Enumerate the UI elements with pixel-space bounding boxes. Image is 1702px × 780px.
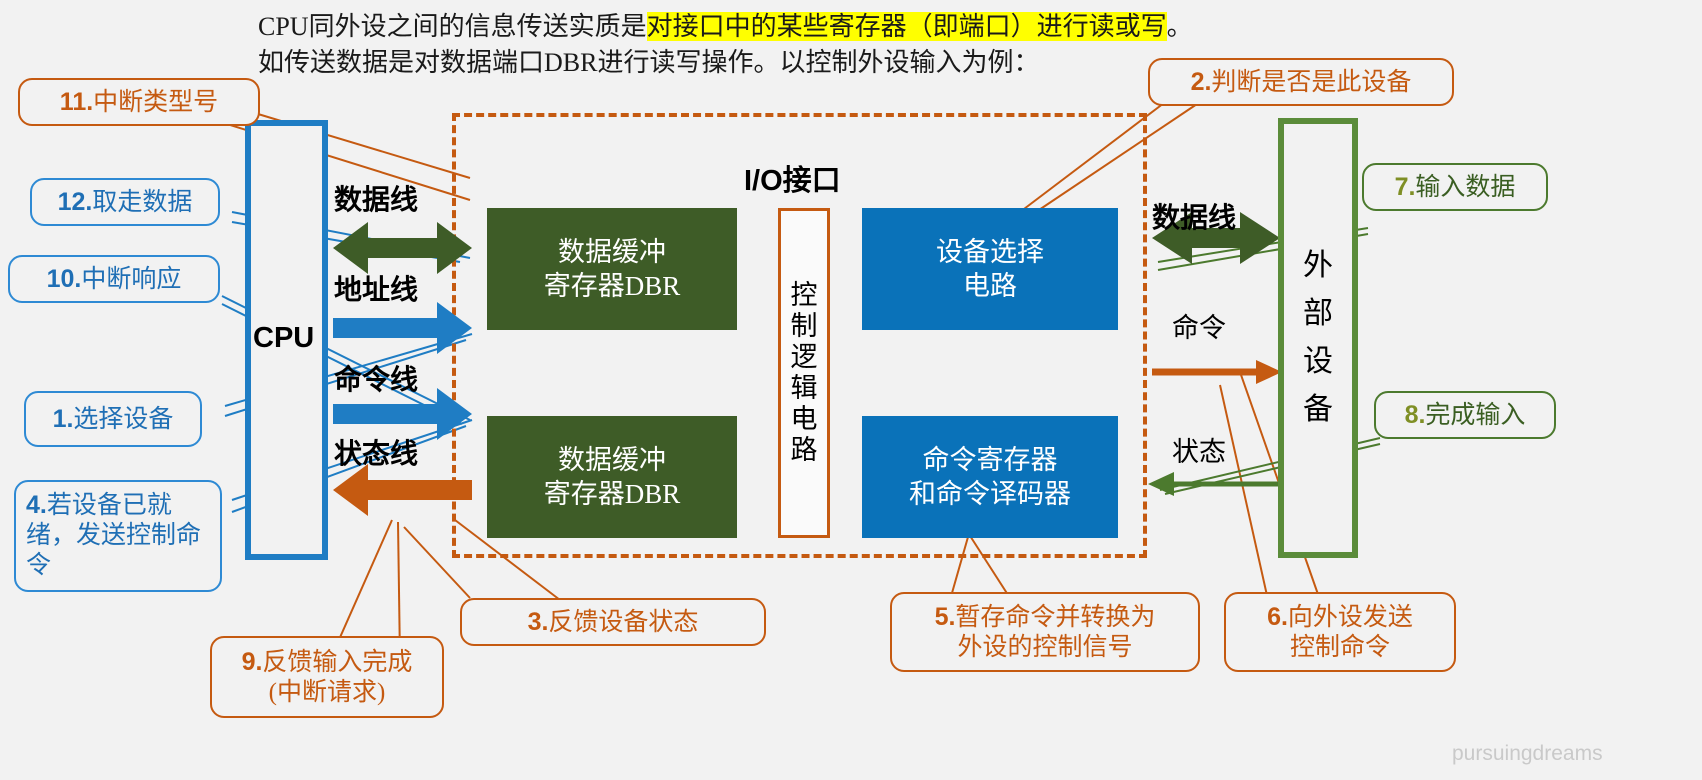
callout-3-number: 3. [528,608,549,636]
diagram-canvas: CPU同外设之间的信息传送实质是对接口中的某些寄存器（即端口）进行读或写。 如传… [0,0,1702,780]
bus-label-address-line: 地址线 [334,268,418,308]
callout-8-text: 完成输入 [1425,402,1525,429]
bus-label-right-command: 命令 [1172,306,1226,345]
right-status-arrow [1148,472,1282,496]
callout-10-text: 中断响应 [81,266,181,293]
callout-9-number: 9. [242,648,263,676]
dbr-top-label: 数据缓冲 寄存器DBR [544,235,681,303]
data-buffer-register-bottom: 数据缓冲 寄存器DBR [487,416,737,538]
callout-5-number: 5. [935,603,956,631]
callout-1-text: 选择设备 [73,406,173,433]
command-register-label: 命令寄存器 和命令译码器 [909,443,1071,511]
dbr-bottom-label: 数据缓冲 寄存器DBR [544,443,681,511]
bus-label-right-status: 状态 [1172,430,1226,469]
data-buffer-register-top: 数据缓冲 寄存器DBR [487,208,737,330]
callout-5-text: 暂存命令并转换为 外设的控制信号 [955,604,1155,661]
callout-7-text: 输入数据 [1415,174,1515,201]
external-device-label: 外部设备 [1303,242,1333,434]
device-select-label: 设备选择 电路 [936,235,1044,303]
callout-6-number: 6. [1267,603,1288,631]
device-select-circuit-box: 设备选择 电路 [862,208,1118,330]
callout-6-text: 向外设发送 控制命令 [1288,604,1413,661]
callout-3-text: 反馈设备状态 [548,609,698,636]
callout-2-number: 2. [1191,68,1212,96]
callout-7-number: 7. [1395,173,1416,201]
callout-3-feedback-device-status[interactable]: 3.反馈设备状态 [460,598,766,646]
external-device-box: 外部设备 [1278,118,1358,558]
watermark: pursuingdreams [1452,742,1603,766]
control-logic-circuit-box: 控制逻辑电路 [778,208,830,538]
callout-4-if-device-ready-send-control-command[interactable]: 4.若设备已就绪，发送控制命令 [14,480,222,592]
right-command-arrow [1152,360,1282,384]
callout-9-text: 反馈输入完成 (中断请求) [262,649,412,706]
callout-1-select-device[interactable]: 1.选择设备 [24,391,202,447]
bus-label-command-line: 命令线 [334,358,418,398]
bus-label-right-data-line: 数据线 [1152,196,1236,236]
callout-11-number: 11. [60,88,93,116]
callout-12-number: 12. [58,188,93,216]
headline-plain-1: CPU同外设之间的信息传送实质是 [258,12,647,41]
callout-11-text: 中断类型号 [93,89,218,116]
callout-4-text: 若设备已就绪，发送控制命令 [26,492,201,579]
bus-label-status-line: 状态线 [334,432,418,472]
callout-9-feedback-input-complete[interactable]: 9.反馈输入完成 (中断请求) [210,636,444,718]
callout-7-input-data[interactable]: 7.输入数据 [1362,163,1548,211]
callout-8-number: 8. [1405,401,1426,429]
callout-12-text: 取走数据 [92,189,192,216]
io-interface-title: I/O接口 [744,157,841,199]
callout-2-text: 判断是否是此设备 [1211,69,1411,96]
callout-8-input-complete[interactable]: 8.完成输入 [1374,391,1556,439]
callout-4-number: 4. [26,491,47,519]
headline-line-2: 如传送数据是对数据端口DBR进行读写操作。以控制外设输入为例： [258,46,1039,80]
callout-10-interrupt-response[interactable]: 10.中断响应 [8,255,220,303]
headline-highlighted: 对接口中的某些寄存器（即端口）进行读或写 [647,12,1167,41]
control-logic-label: 控制逻辑电路 [791,280,818,466]
headline-period: 。 [1167,12,1193,41]
callout-12-take-data[interactable]: 12.取走数据 [30,178,220,226]
callout-2-judge-if-this-device[interactable]: 2.判断是否是此设备 [1148,58,1454,106]
headline-line-1: CPU同外设之间的信息传送实质是对接口中的某些寄存器（即端口）进行读或写。 [258,10,1193,44]
callout-1-number: 1. [53,405,74,433]
callout-10-number: 10. [47,265,82,293]
bus-label-data-line: 数据线 [334,178,418,218]
callout-11-interrupt-type-number[interactable]: 11.中断类型号 [18,78,260,126]
callout-5-buffer-command-convert[interactable]: 5.暂存命令并转换为 外设的控制信号 [890,592,1200,672]
command-register-box: 命令寄存器 和命令译码器 [862,416,1118,538]
callout-6-send-control-command-to-device[interactable]: 6.向外设发送 控制命令 [1224,592,1456,672]
cpu-label: CPU [253,322,314,355]
